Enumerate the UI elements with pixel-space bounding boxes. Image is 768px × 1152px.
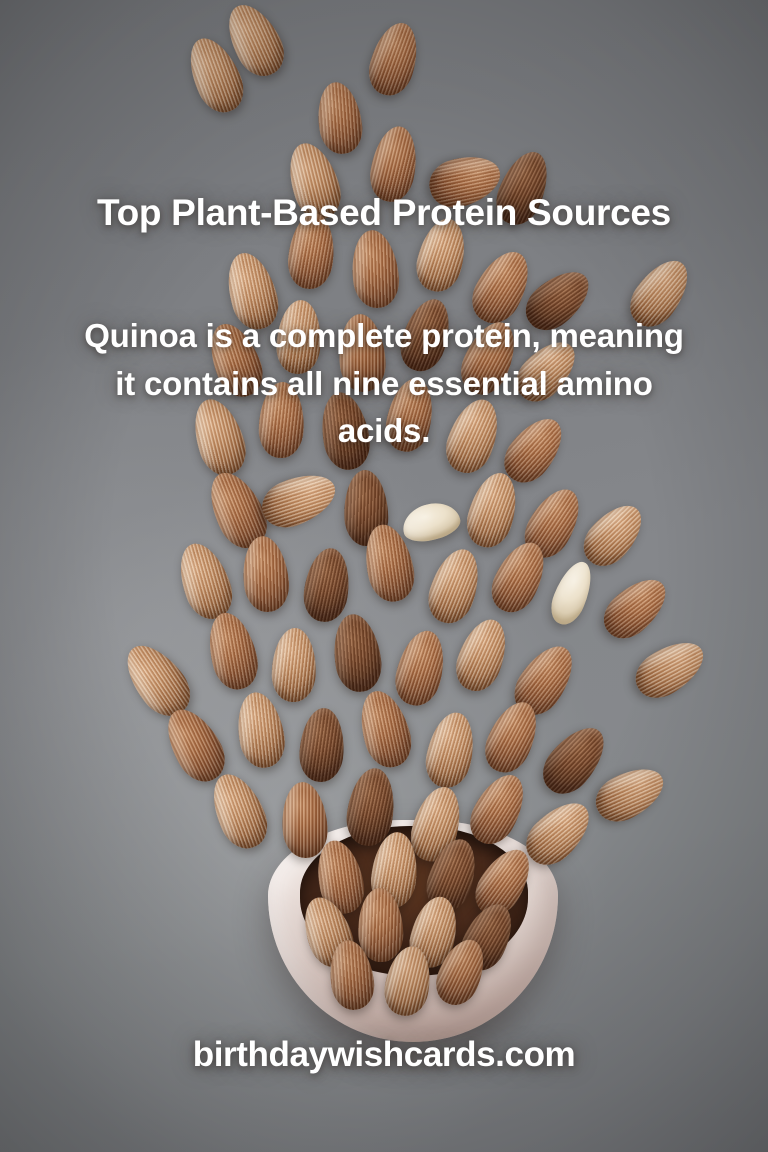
pinterest-pin-card: Top Plant-Based Protein Sources Quinoa i…	[0, 0, 768, 1152]
